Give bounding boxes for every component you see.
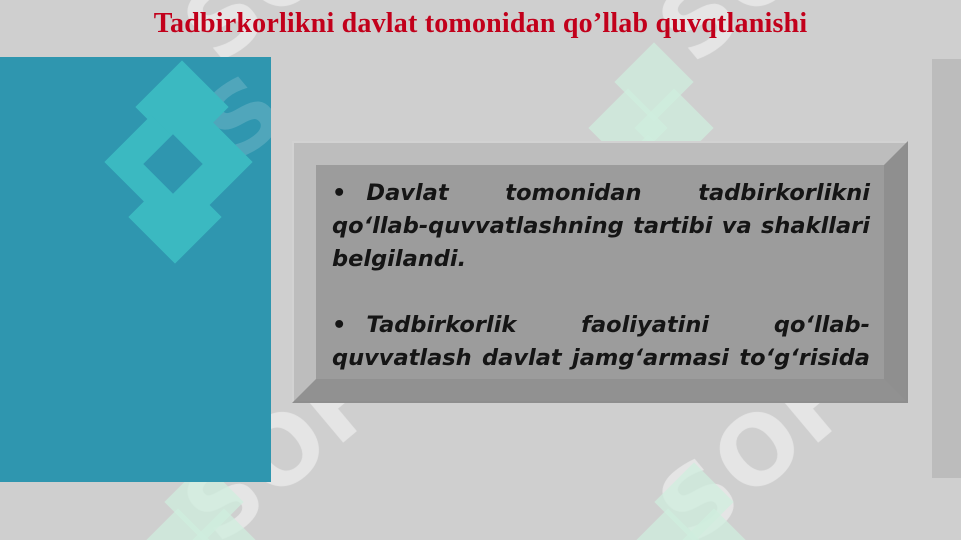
bullet-item-2: •Tadbirkorlik faoliyatini qo‘llab-quvvat… bbox=[332, 309, 870, 379]
brand-logo-icon bbox=[118, 82, 228, 252]
slide-canvas: SOFF SOFF SOFF SOFF Tadbirkorlikni davla… bbox=[0, 0, 961, 540]
left-teal-panel: S bbox=[0, 57, 271, 482]
body-text: •Davlat tomonidan tadbirkorlikni qo‘llab… bbox=[332, 177, 870, 379]
slide-title: Tadbirkorlikni davlat tomonidan qo’llab … bbox=[0, 8, 961, 40]
bullet-marker-2: • bbox=[332, 312, 346, 338]
bullet-marker-1: • bbox=[332, 180, 346, 206]
right-accent-strip bbox=[932, 59, 961, 478]
content-box: •Davlat tomonidan tadbirkorlikni qo‘llab… bbox=[292, 141, 908, 403]
watermark-logo-icon-bottom-right bbox=[640, 480, 732, 540]
bullet-item-1: •Davlat tomonidan tadbirkorlikni qo‘llab… bbox=[332, 177, 870, 309]
bullet-text-2: Tadbirkorlik faoliyatini qo‘llab-quvvatl… bbox=[332, 312, 870, 379]
watermark-logo-icon-bottom-left bbox=[150, 480, 242, 540]
bullet-text-1: Davlat tomonidan tadbirkorlikni qo‘llab-… bbox=[332, 180, 870, 272]
content-box-inner: •Davlat tomonidan tadbirkorlikni qo‘llab… bbox=[316, 165, 884, 379]
